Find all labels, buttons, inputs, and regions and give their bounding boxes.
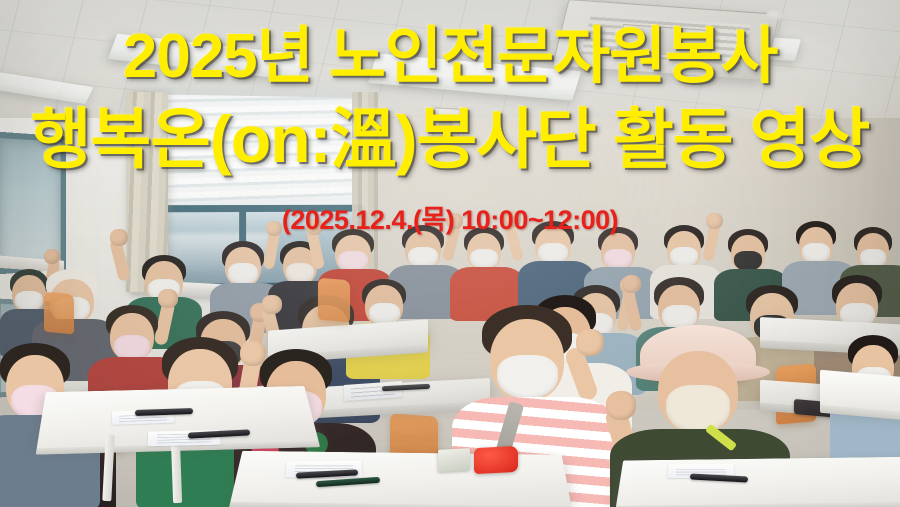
classroom-photo bbox=[0, 0, 900, 507]
desk-edge bbox=[229, 502, 573, 507]
face-mask bbox=[286, 263, 314, 283]
small-box bbox=[438, 448, 470, 472]
red-pouch bbox=[474, 446, 518, 474]
raised-fist bbox=[576, 329, 604, 356]
window-frame bbox=[137, 205, 364, 213]
raised-fist bbox=[504, 211, 521, 227]
raised-fist bbox=[306, 219, 323, 235]
face-mask bbox=[497, 355, 558, 399]
desk bbox=[820, 370, 900, 416]
raised-fist bbox=[622, 275, 641, 293]
raised-fist bbox=[606, 391, 636, 420]
desk bbox=[230, 451, 571, 507]
chair bbox=[44, 292, 74, 335]
chair bbox=[318, 278, 350, 323]
face-mask bbox=[604, 249, 632, 269]
desk bbox=[616, 457, 900, 507]
raised-fist bbox=[262, 295, 282, 314]
raised-fist bbox=[110, 229, 128, 246]
raised-fist bbox=[158, 289, 178, 308]
wall-speaker-icon bbox=[431, 107, 461, 140]
face-mask bbox=[470, 249, 498, 269]
face-mask bbox=[734, 251, 762, 271]
face-mask bbox=[670, 247, 698, 267]
desk-edge bbox=[615, 502, 900, 507]
audience-group bbox=[0, 225, 900, 507]
window-blinds bbox=[137, 94, 364, 213]
face-mask bbox=[666, 385, 730, 433]
video-thumbnail: 2025년 노인전문자원봉사 행복온(on:溫)봉사단 활동 영상 (2025.… bbox=[0, 0, 900, 507]
face-mask bbox=[228, 263, 258, 285]
face-mask bbox=[802, 243, 830, 263]
